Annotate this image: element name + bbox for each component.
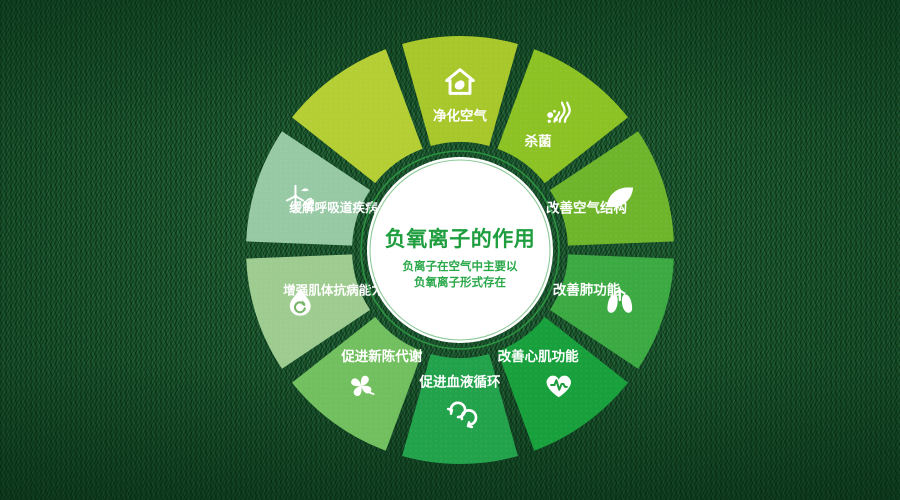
segment-texture <box>402 354 518 464</box>
segment-label-promote-metabolism: 促进新陈代谢 <box>340 348 422 364</box>
segment-label-improve-lung-function: 改善肺功能 <box>553 282 621 298</box>
infographic-canvas: 净化空气杀菌改善空气结构改善肺功能改善心肌功能促进血液循环促进新陈代谢增强肌体抗… <box>0 0 900 500</box>
hub-subtitle-line-2: 负氧离子形式存在 <box>414 275 506 289</box>
segment-label-improve-cardiac-function: 改善心肌功能 <box>498 348 579 364</box>
segment-label-improve-air-structure: 改善空气结构 <box>546 199 627 215</box>
hub-subtitle-line-1: 负离子在空气中主要以 <box>403 259 518 273</box>
segment-label-purify-air: 净化空气 <box>433 108 487 124</box>
center-hub: 负氧离子的作用 负离子在空气中主要以 负氧离子形式存在 <box>361 151 559 349</box>
benefits-wheel: 净化空气杀菌改善空气结构改善肺功能改善心肌功能促进血液循环促进新陈代谢增强肌体抗… <box>240 30 680 470</box>
segment-label-relieve-respiratory-disease: 缓解呼吸道疾病 <box>289 200 378 215</box>
hub-title: 负氧离子的作用 <box>385 227 536 251</box>
segment-label-sterilization: 杀菌 <box>525 133 552 149</box>
segment-label-promote-blood-circulation: 促进血液循环 <box>419 374 501 390</box>
segment-texture <box>402 36 518 146</box>
